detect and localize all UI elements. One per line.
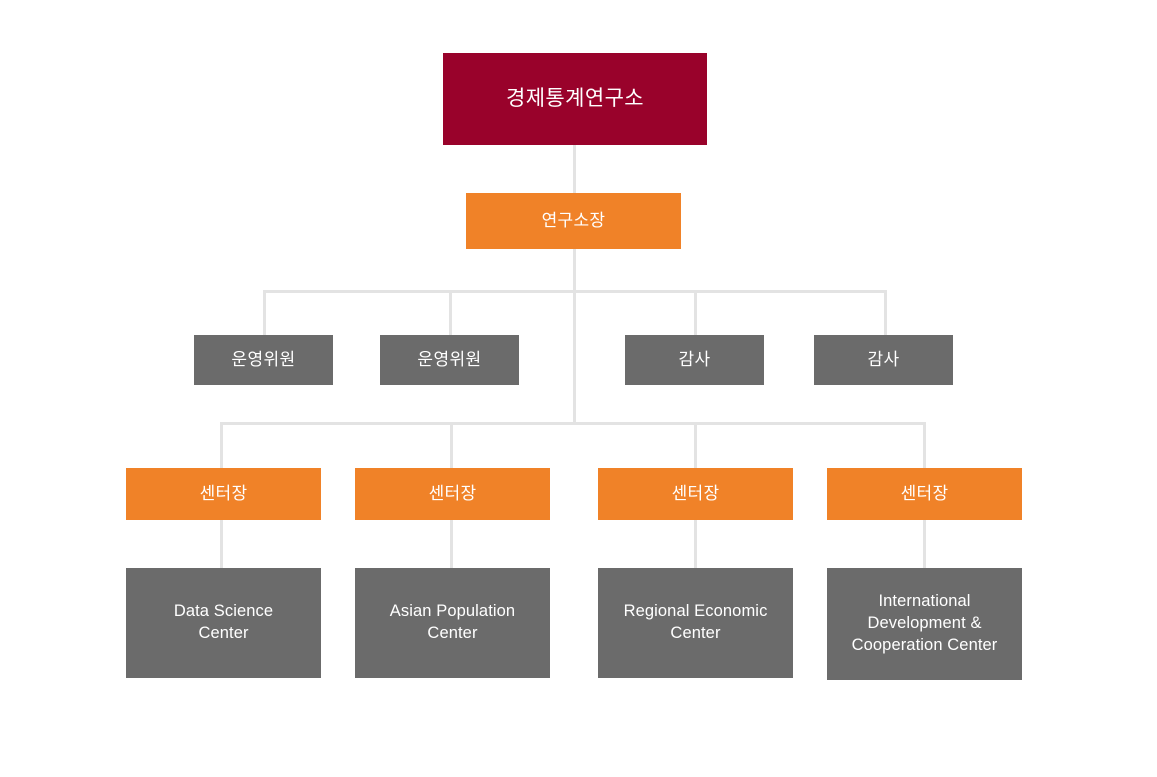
connector-drop-committee-4 xyxy=(884,290,887,337)
connector-director-spine xyxy=(573,249,576,424)
node-center-international-development[interactable]: International Development & Cooperation … xyxy=(827,568,1022,680)
connector-drop-committee-3 xyxy=(694,290,697,337)
node-center-asian-population[interactable]: Asian Population Center xyxy=(355,568,550,678)
node-center-data-science[interactable]: Data Science Center xyxy=(126,568,321,678)
node-center-head-2[interactable]: 센터장 xyxy=(355,468,550,520)
node-auditor-2[interactable]: 감사 xyxy=(814,335,953,385)
node-director[interactable]: 연구소장 xyxy=(466,193,681,249)
org-chart: 경제통계연구소 연구소장 운영위원 운영위원 감사 감사 센터장 센터장 센터장… xyxy=(0,0,1157,777)
node-root-institute[interactable]: 경제통계연구소 xyxy=(443,53,707,145)
connector-root-to-director xyxy=(573,145,576,195)
connector-center-bus xyxy=(220,422,926,425)
node-center-regional-economic[interactable]: Regional Economic Center xyxy=(598,568,793,678)
node-center-head-3[interactable]: 센터장 xyxy=(598,468,793,520)
connector-drop-committee-1 xyxy=(263,290,266,337)
node-center-head-4[interactable]: 센터장 xyxy=(827,468,1022,520)
node-auditor-1[interactable]: 감사 xyxy=(625,335,764,385)
connector-committee-bus xyxy=(263,290,887,293)
node-committee-1[interactable]: 운영위원 xyxy=(194,335,333,385)
node-committee-2[interactable]: 운영위원 xyxy=(380,335,519,385)
node-center-head-1[interactable]: 센터장 xyxy=(126,468,321,520)
connector-drop-committee-2 xyxy=(449,290,452,337)
